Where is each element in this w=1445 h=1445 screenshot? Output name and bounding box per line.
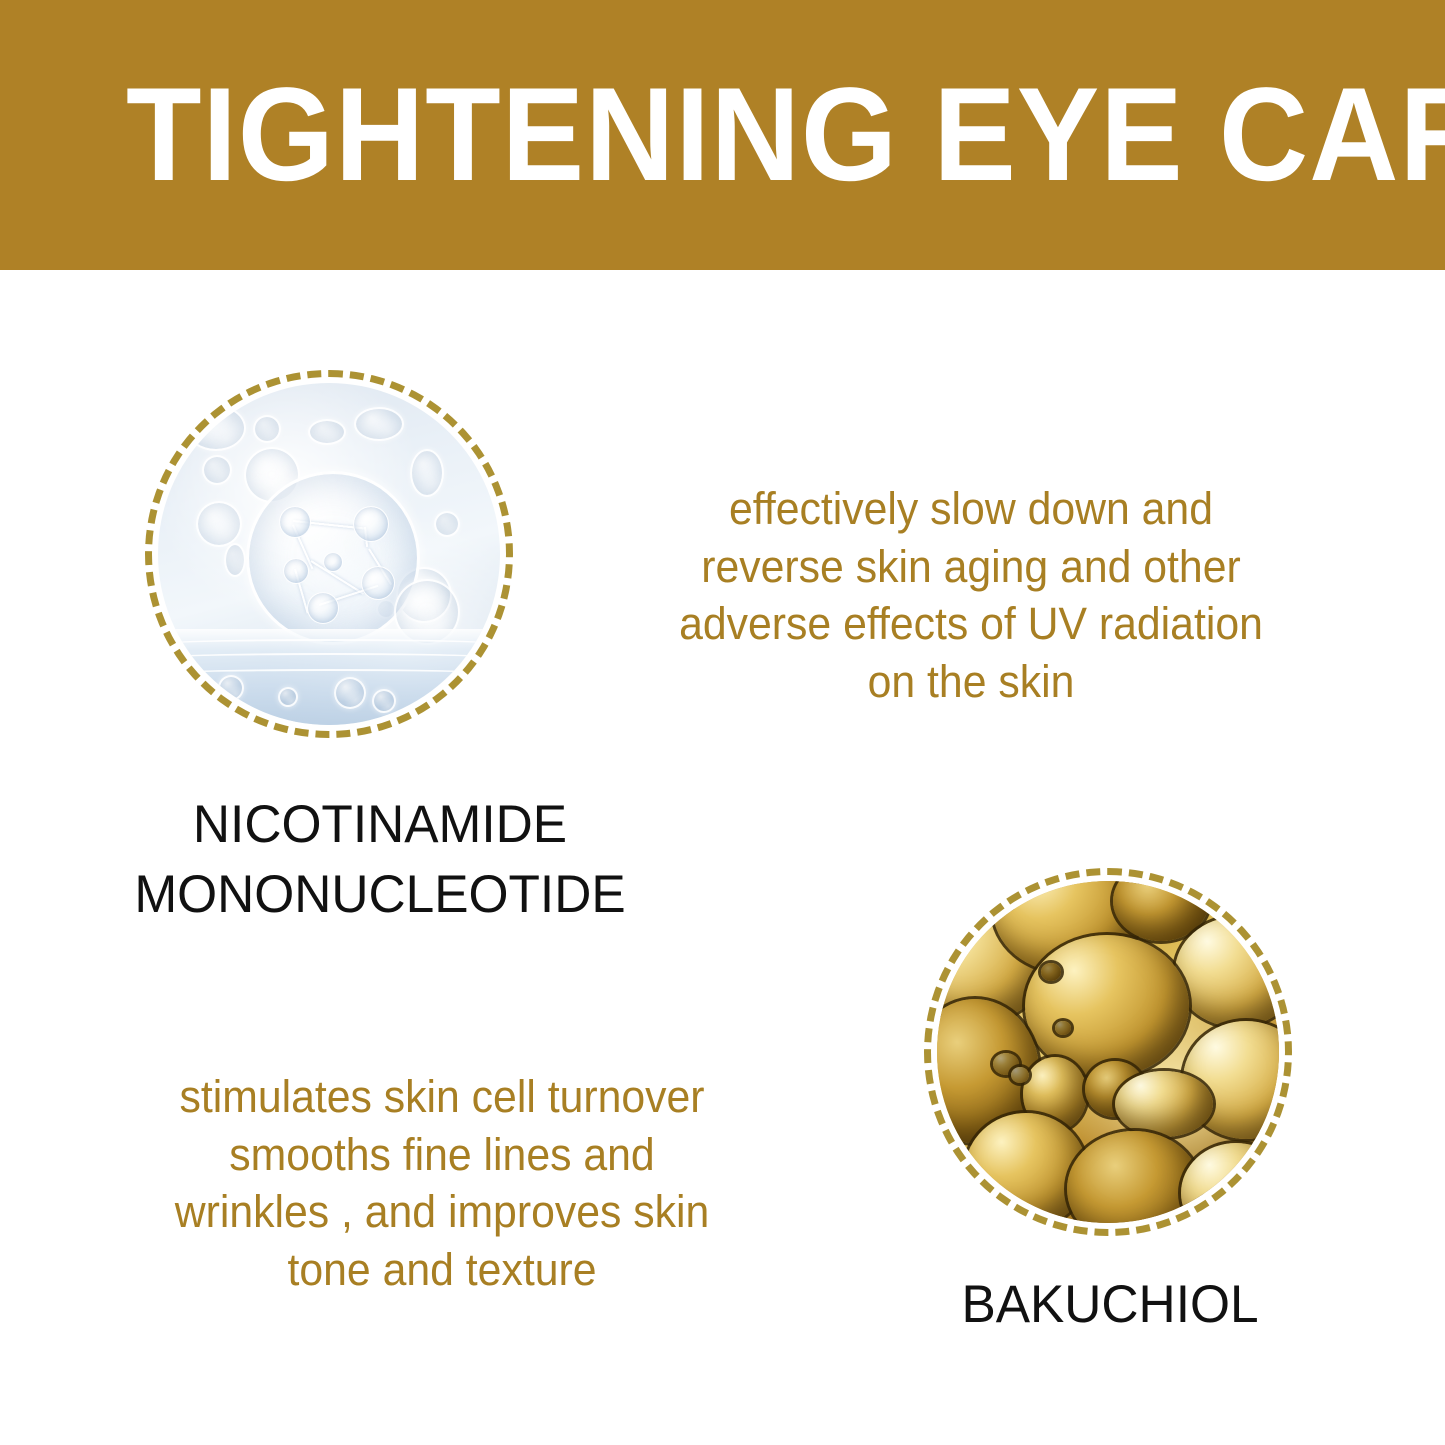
molecule-atom-icon (361, 566, 395, 600)
benefit-line: on the skin (636, 653, 1307, 711)
ingredient-name-line: NICOTINAMIDE (70, 790, 691, 860)
molecule-atom-icon (323, 552, 343, 572)
gold-bubble-icon (1175, 917, 1279, 1027)
gold-bubble-icon (1041, 963, 1061, 981)
ingredient-name-bakuchiol: BAKUCHIOL (887, 1270, 1333, 1340)
benefit-line: effectively slow down and (636, 480, 1307, 538)
bubble-icon (308, 419, 346, 445)
bubble-icon (218, 675, 244, 701)
gold-bubble-icon (1067, 1131, 1201, 1223)
ingredient-name-line: MONONUCLEOTIDE (70, 860, 691, 930)
molecule-atom-icon (353, 506, 389, 542)
page-title: TIGHTENING EYE CARE (126, 69, 1445, 202)
ingredient-name-line: BAKUCHIOL (887, 1270, 1333, 1340)
ingredient-image-nicotinamide-mononucleotide (145, 370, 513, 738)
benefit-text-nicotinamide-mononucleotide: effectively slow down and reverse skin a… (636, 480, 1307, 710)
gold-bubble-icon (1115, 1071, 1213, 1137)
bubble-icon (334, 677, 366, 709)
gold-bubble-icon (1025, 935, 1189, 1077)
gold-bubble-icon (1011, 1067, 1029, 1083)
bubble-icon (278, 687, 298, 707)
bubble-icon (434, 511, 460, 537)
benefit-line: adverse effects of UV radiation (636, 595, 1307, 653)
bubble-icon (202, 455, 232, 485)
water-bubbles-molecule-photo (158, 383, 500, 725)
gold-bubbles-foam-photo (937, 881, 1279, 1223)
bubble-icon (224, 543, 246, 577)
ingredient-name-nicotinamide-mononucleotide: NICOTINAMIDE MONONUCLEOTIDE (70, 790, 691, 931)
benefit-line: tone and texture (113, 1241, 770, 1299)
bubble-icon (253, 415, 281, 443)
bubble-icon (410, 449, 444, 497)
bubble-icon (354, 407, 404, 441)
molecule-atom-icon (307, 592, 339, 624)
gold-bubble-icon (1055, 1021, 1071, 1035)
benefit-line: wrinkles , and improves skin (113, 1183, 770, 1241)
ingredient-image-bakuchiol (924, 868, 1292, 1236)
water-surface (158, 629, 500, 725)
bubble-icon (196, 501, 242, 547)
benefit-line: smooths fine lines and (113, 1126, 770, 1184)
benefit-line: stimulates skin cell turnover (113, 1068, 770, 1126)
benefit-line: reverse skin aging and other (636, 538, 1307, 596)
benefit-text-bakuchiol: stimulates skin cell turnover smooths fi… (113, 1068, 770, 1298)
gold-bubble-icon (1181, 1143, 1279, 1223)
ripple-line (158, 669, 500, 681)
ripple-line (158, 639, 500, 651)
header-banner: TIGHTENING EYE CARE (0, 0, 1445, 270)
molecule-atom-icon (279, 506, 311, 538)
ripple-line (158, 653, 500, 665)
molecule-atom-icon (283, 558, 309, 584)
gold-bubble-icon (965, 1113, 1087, 1223)
bubble-icon (186, 405, 246, 451)
bubble-icon (372, 689, 396, 713)
